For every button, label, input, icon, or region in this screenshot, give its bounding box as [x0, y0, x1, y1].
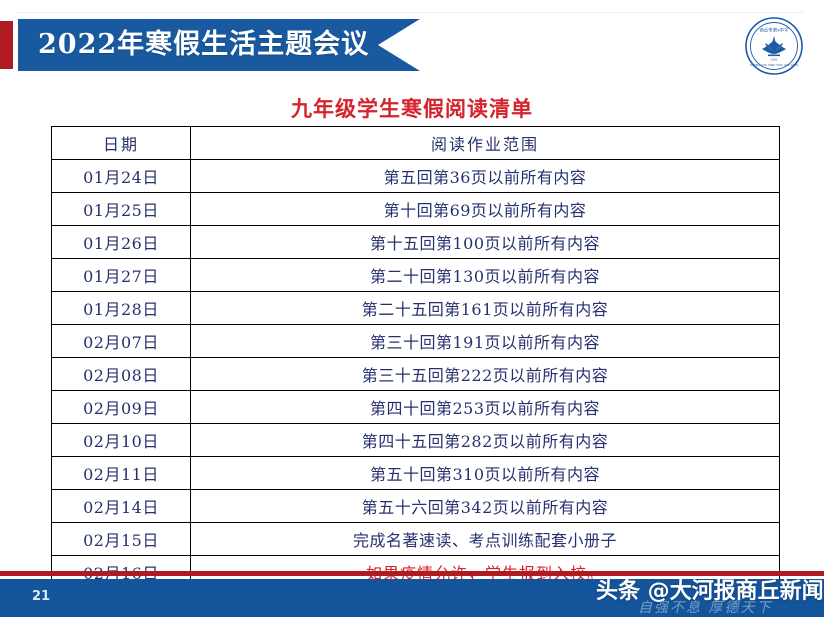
table-body: 日期阅读作业范围01月24日第五回第36页以前所有内容01月25日第十回第69页…	[52, 127, 780, 589]
svg-text:1905: 1905	[771, 58, 778, 62]
cell-range: 第五十回第310页以前所有内容	[191, 457, 780, 490]
column-header-range: 阅读作业范围	[191, 127, 780, 160]
table-row: 01月26日第十五回第100页以前所有内容	[52, 226, 780, 259]
table-row: 02月15日完成名著速读、考点训练配套小册子	[52, 523, 780, 556]
table-row: 02月10日第四十五回第282页以前所有内容	[52, 424, 780, 457]
cell-date: 02月09日	[52, 391, 191, 424]
cell-date: 02月07日	[52, 325, 191, 358]
footer-red-stripe	[0, 571, 824, 576]
cell-date: 01月26日	[52, 226, 191, 259]
table-row: 02月09日第四十回第253页以前所有内容	[52, 391, 780, 424]
slide-canvas: 2022年寒假生活主题会议 商丘市第x中学 SHANG QIU XING HUA…	[0, 0, 824, 617]
table-row: 02月08日第三十五回第222页以前所有内容	[52, 358, 780, 391]
cell-range: 第四十回第253页以前所有内容	[191, 391, 780, 424]
cell-range: 完成名著速读、考点训练配套小册子	[191, 523, 780, 556]
table-row: 01月24日第五回第36页以前所有内容	[52, 160, 780, 193]
cell-range: 第三十回第191页以前所有内容	[191, 325, 780, 358]
table-row: 01月27日第二十回第130页以前所有内容	[52, 259, 780, 292]
cell-date: 02月08日	[52, 358, 191, 391]
page-title: 九年级学生寒假阅读清单	[0, 93, 824, 123]
top-divider	[14, 12, 804, 13]
cell-date: 01月25日	[52, 193, 191, 226]
cell-range: 第四十五回第282页以前所有内容	[191, 424, 780, 457]
cell-date: 01月28日	[52, 292, 191, 325]
table-row: 02月11日第五十回第310页以前所有内容	[52, 457, 780, 490]
cell-date: 02月11日	[52, 457, 191, 490]
cell-range: 第五回第36页以前所有内容	[191, 160, 780, 193]
cell-date: 02月15日	[52, 523, 191, 556]
banner-chevron-notch-icon	[378, 19, 420, 71]
title-banner: 2022年寒假生活主题会议	[0, 19, 425, 71]
cell-date: 01月24日	[52, 160, 191, 193]
cell-range: 第十五回第100页以前所有内容	[191, 226, 780, 259]
page-number: 21	[32, 589, 50, 604]
column-header-date: 日期	[52, 127, 191, 160]
cell-range: 第三十五回第222页以前所有内容	[191, 358, 780, 391]
table-row: 02月14日第五十六回第342页以前所有内容	[52, 490, 780, 523]
table-row: 01月28日第二十五回第161页以前所有内容	[52, 292, 780, 325]
cell-range: 第十回第69页以前所有内容	[191, 193, 780, 226]
cell-date: 01月27日	[52, 259, 191, 292]
cell-date: 02月10日	[52, 424, 191, 457]
banner-red-accent	[0, 21, 13, 69]
cell-range: 第二十回第130页以前所有内容	[191, 259, 780, 292]
table-row: 01月25日第十回第69页以前所有内容	[52, 193, 780, 226]
table-row: 02月07日第三十回第191页以前所有内容	[52, 325, 780, 358]
cell-date: 02月14日	[52, 490, 191, 523]
school-crest-icon: 商丘市第x中学 SHANG QIU XING HUA XUE XIAO 1905	[744, 16, 804, 76]
banner-title: 2022年寒假生活主题会议	[38, 19, 369, 71]
reading-list-table: 日期阅读作业范围01月24日第五回第36页以前所有内容01月25日第十回第69页…	[51, 126, 773, 589]
cell-range: 第五十六回第342页以前所有内容	[191, 490, 780, 523]
table-header-row: 日期阅读作业范围	[52, 127, 780, 160]
svg-text:SHANG QIU XING HUA XUE XIAO: SHANG QIU XING HUA XUE XIAO	[750, 63, 799, 67]
svg-text:商丘市第x中学: 商丘市第x中学	[760, 27, 790, 34]
cell-range: 第二十五回第161页以前所有内容	[191, 292, 780, 325]
footer-blue-bar	[0, 579, 824, 617]
